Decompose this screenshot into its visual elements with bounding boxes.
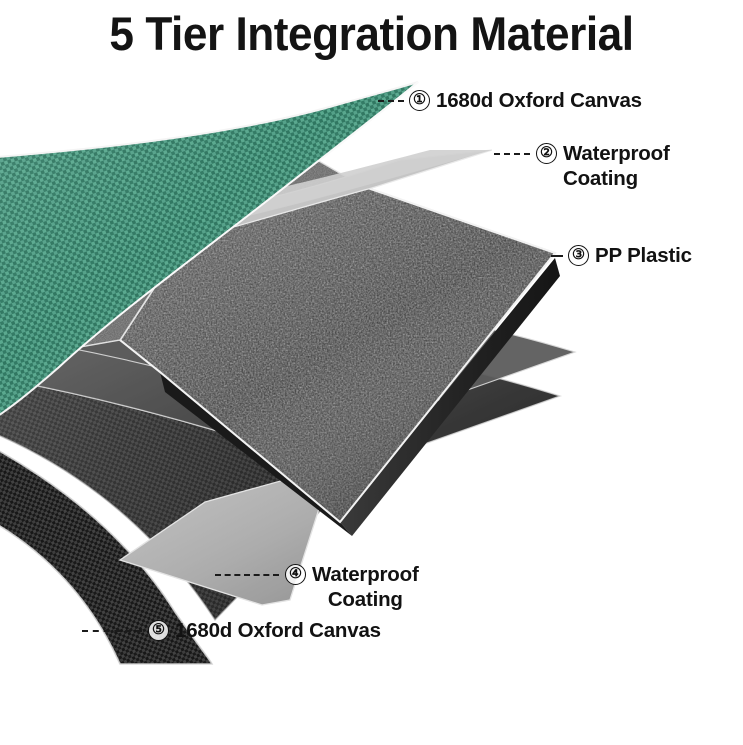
callout-label-2-line2: Coating (563, 166, 670, 191)
callout-label-4: Waterproof Coating (312, 562, 419, 612)
callout-label-4-line2: Coating (312, 587, 419, 612)
callout-label-4-line1: Waterproof (312, 563, 419, 586)
callout-layer-5: ⑤ 1680d Oxford Canvas (148, 618, 381, 643)
callout-number-icon-5: ⑤ (148, 620, 169, 641)
infographic-canvas: 5 Tier Integration Material (0, 0, 743, 745)
callout-number-icon-1: ① (409, 90, 430, 111)
callout-label-1: 1680d Oxford Canvas (436, 88, 642, 113)
page-title: 5 Tier Integration Material (22, 6, 720, 62)
callout-label-5: 1680d Oxford Canvas (175, 618, 381, 643)
callout-layer-1: ① 1680d Oxford Canvas (409, 88, 642, 113)
callout-label-2: Waterproof Coating (563, 141, 670, 191)
callout-layer-4: ④ Waterproof Coating (285, 562, 419, 612)
callout-label-2-line1: Waterproof (563, 142, 670, 165)
callout-layer-3: ③ PP Plastic (568, 243, 692, 268)
callout-number-icon-2: ② (536, 143, 557, 164)
callout-layer-2: ② Waterproof Coating (536, 141, 670, 191)
callout-label-3: PP Plastic (595, 243, 692, 268)
callout-number-icon-3: ③ (568, 245, 589, 266)
callout-number-icon-4: ④ (285, 564, 306, 585)
